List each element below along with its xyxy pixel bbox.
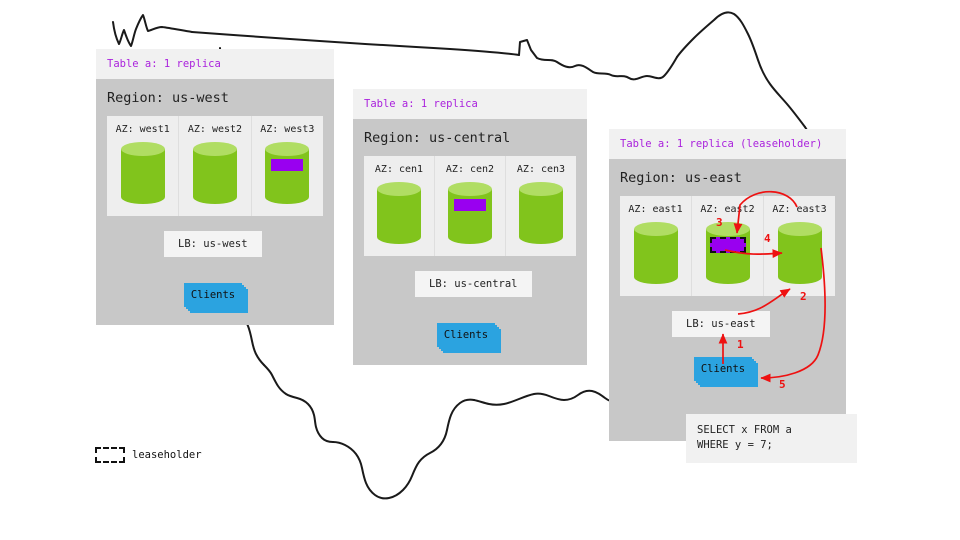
region-panel-us-central: Table a: 1 replica Region: us-central AZ… — [353, 89, 587, 365]
database-cylinder-icon — [193, 142, 237, 204]
az-label: AZ: east2 — [692, 204, 763, 215]
load-balancer-us-west[interactable]: LB: us-west — [164, 231, 262, 257]
az-east3[interactable]: AZ: east3 — [764, 196, 835, 296]
az-east2[interactable]: AZ: east2 — [692, 196, 764, 296]
clients-us-east[interactable]: Clients — [694, 357, 760, 389]
arrow-label-4: 4 — [764, 232, 771, 245]
az-east1[interactable]: AZ: east1 — [620, 196, 692, 296]
az-label: AZ: cen1 — [364, 164, 434, 175]
az-label: AZ: cen3 — [506, 164, 576, 175]
legend-label: leaseholder — [132, 449, 202, 461]
region-header-us-east: Table a: 1 replica (leaseholder) — [609, 129, 846, 159]
dashed-rect-icon — [95, 447, 125, 463]
database-cylinder-icon — [519, 182, 563, 244]
diagram-canvas: 1 2 3 4 5 Table a: 1 replica Region: us-… — [0, 0, 960, 540]
az-row-us-west: AZ: west1 AZ: west2 AZ: west3 — [107, 116, 323, 216]
az-label: AZ: east1 — [620, 204, 691, 215]
region-body-us-east: Region: us-east AZ: east1 AZ: east2 — [609, 159, 846, 441]
clients-us-central[interactable]: Clients — [437, 323, 503, 355]
replica-marker — [454, 199, 486, 211]
az-row-us-east: AZ: east1 AZ: east2 AZ: east3 — [620, 196, 835, 296]
az-label: AZ: cen2 — [435, 164, 505, 175]
az-label: AZ: west3 — [252, 124, 323, 135]
database-cylinder-icon — [634, 222, 678, 284]
az-label: AZ: east3 — [764, 204, 835, 215]
load-balancer-us-central[interactable]: LB: us-central — [415, 271, 532, 297]
database-cylinder-icon — [265, 142, 309, 204]
region-title-us-west: Region: us-west — [96, 79, 334, 116]
arrow-label-5: 5 — [779, 378, 786, 391]
replica-marker — [271, 159, 303, 171]
database-cylinder-icon — [778, 222, 822, 284]
region-panel-us-east: Table a: 1 replica (leaseholder) Region:… — [609, 129, 846, 441]
region-panel-us-west: Table a: 1 replica Region: us-west AZ: w… — [96, 49, 334, 325]
az-west1[interactable]: AZ: west1 — [107, 116, 179, 216]
az-label: AZ: west2 — [179, 124, 250, 135]
az-label: AZ: west1 — [107, 124, 178, 135]
region-title-us-central: Region: us-central — [353, 119, 587, 156]
region-header-us-west: Table a: 1 replica — [96, 49, 334, 79]
arrow-label-2: 2 — [800, 290, 807, 303]
clients-label: Clients — [437, 323, 495, 347]
az-cen1[interactable]: AZ: cen1 — [364, 156, 435, 256]
clients-label: Clients — [694, 357, 752, 381]
clients-label: Clients — [184, 283, 242, 307]
database-cylinder-icon — [448, 182, 492, 244]
az-west3[interactable]: AZ: west3 — [252, 116, 323, 216]
arrow-label-3: 3 — [716, 216, 723, 229]
az-row-us-central: AZ: cen1 AZ: cen2 AZ: cen3 — [364, 156, 576, 256]
database-cylinder-icon — [121, 142, 165, 204]
region-header-us-central: Table a: 1 replica — [353, 89, 587, 119]
load-balancer-us-east[interactable]: LB: us-east — [672, 311, 770, 337]
az-cen2[interactable]: AZ: cen2 — [435, 156, 506, 256]
database-cylinder-icon — [377, 182, 421, 244]
az-west2[interactable]: AZ: west2 — [179, 116, 251, 216]
sql-query-box: SELECT x FROM a WHERE y = 7; — [686, 414, 857, 463]
region-title-us-east: Region: us-east — [609, 159, 846, 196]
legend: leaseholder — [95, 447, 202, 463]
database-cylinder-icon — [706, 222, 750, 284]
arrow-label-1: 1 — [737, 338, 744, 351]
replica-marker-leaseholder — [710, 237, 746, 253]
az-cen3[interactable]: AZ: cen3 — [506, 156, 576, 256]
clients-us-west[interactable]: Clients — [184, 283, 250, 315]
